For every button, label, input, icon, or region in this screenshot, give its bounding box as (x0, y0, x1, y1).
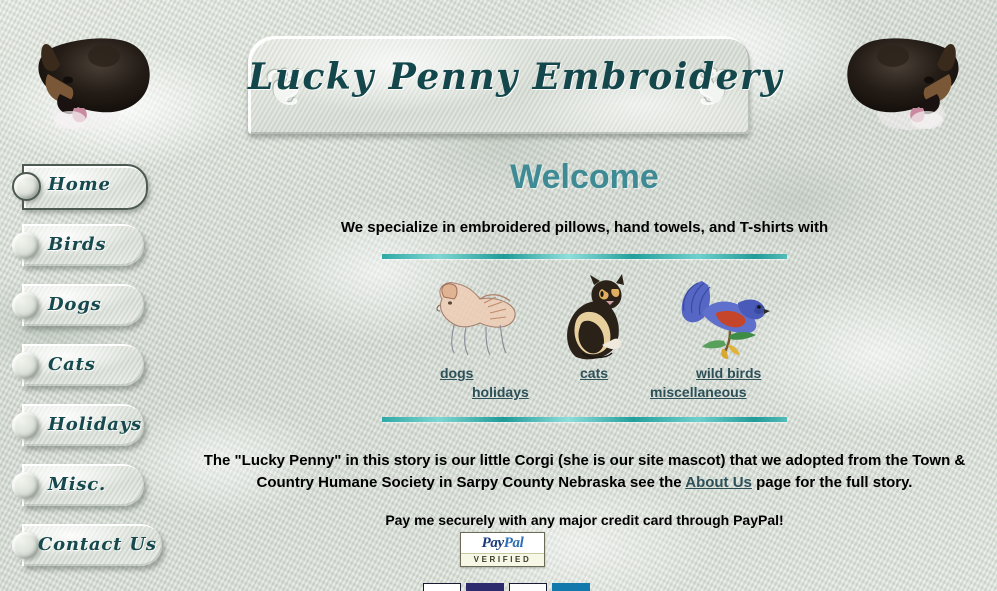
link-wild-birds[interactable]: wild birds (696, 365, 761, 381)
nav-pill-misc (22, 464, 144, 506)
sidebar-item-holidays[interactable]: Holidays (0, 404, 172, 448)
sidebar-item-misc[interactable]: Misc. (0, 464, 172, 508)
sidebar-item-contact-us[interactable]: Contact Us (0, 524, 172, 568)
sidebar-item-cats[interactable]: Cats (0, 344, 172, 388)
nav-knob-holidays-icon (12, 412, 39, 439)
nav-knob-misc-icon (12, 472, 39, 499)
paypal-verified-text: VERIFIED (461, 554, 544, 566)
corgi-head-right-image (839, 22, 989, 142)
nav-knob-contact-us-icon (12, 532, 39, 559)
story-text: The "Lucky Penny" in this story is our l… (172, 450, 997, 494)
discover-card-logo[interactable] (509, 583, 547, 591)
cat-icon (550, 269, 634, 361)
amex-card-logo[interactable] (552, 583, 590, 591)
nav-pill-dogs (22, 284, 144, 326)
link-cats[interactable]: cats (580, 365, 608, 381)
page-title: Welcome (172, 158, 997, 197)
nav-pill-contact-us (22, 524, 162, 566)
sidebar-item-birds[interactable]: Birds (0, 224, 172, 268)
credit-card-logos (423, 583, 590, 591)
nav-knob-cats-icon (12, 352, 39, 379)
calico-cat-thumbnail[interactable] (550, 269, 634, 361)
nav-pill-birds (22, 224, 144, 266)
divider-top (382, 254, 787, 259)
nav-pill-cats (22, 344, 144, 386)
bluebird-icon (672, 269, 770, 359)
paypal-verified-badge[interactable]: PayPal VERIFIED (460, 532, 545, 567)
dog-sketch-icon (424, 273, 524, 359)
visa-card-logo[interactable] (423, 583, 461, 591)
mastercard-card-logo[interactable] (466, 583, 504, 591)
paypal-wordmark: PayPal (461, 533, 544, 554)
sidebar-item-dogs[interactable]: Dogs (0, 284, 172, 328)
paypal-pal-text: Pal (504, 535, 524, 551)
link-dogs[interactable]: dogs (440, 365, 473, 381)
gallery-links: dogs cats wild birds holidays miscellane… (382, 365, 787, 407)
tagline-text: We specialize in embroidered pillows, ha… (172, 219, 997, 236)
bluebird-thumbnail[interactable] (672, 269, 770, 359)
nav-knob-home-icon (12, 172, 41, 201)
link-miscellaneous[interactable]: miscellaneous (650, 384, 747, 400)
link-about-us[interactable]: About Us (685, 474, 752, 491)
paypal-promo-text: Pay me securely with any major credit ca… (172, 512, 997, 528)
link-holidays[interactable]: holidays (472, 384, 529, 400)
paypal-pay-text: Pay (482, 535, 504, 551)
site-title: Lucky Penny Embroidery (248, 56, 750, 98)
dog-sketch-thumbnail[interactable] (424, 273, 524, 359)
story-part-2: page for the full story. (752, 474, 913, 491)
nav-pill-holidays (22, 404, 144, 446)
nav-knob-birds-icon (12, 232, 39, 259)
gallery (382, 267, 787, 365)
sidebar-item-home[interactable]: Home (0, 164, 172, 208)
nav-knob-dogs-icon (12, 292, 39, 319)
site-banner: ❦ ❦ Lucky Penny Embroidery (248, 36, 750, 134)
divider-bottom (382, 417, 787, 422)
corgi-head-left-image (8, 22, 158, 142)
sidebar-nav: Home Birds Dogs Cats Holidays Misc. Cont… (0, 164, 172, 584)
corgi-head-right-icon (839, 22, 989, 142)
corgi-head-left-icon (8, 22, 158, 142)
main-content: Welcome We specialize in embroidered pil… (172, 150, 997, 542)
